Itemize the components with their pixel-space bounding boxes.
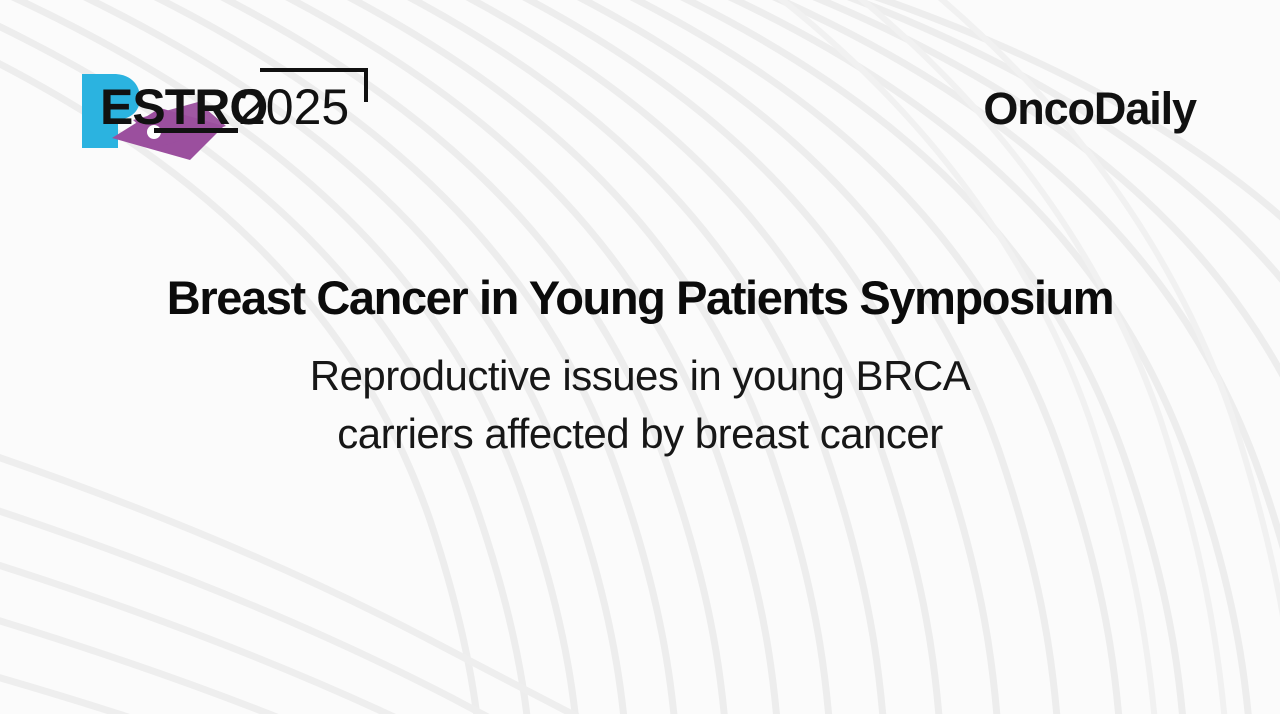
estro-year: 2025 — [238, 79, 349, 135]
estro-2025-logo: ESTRO 2025 — [78, 58, 378, 162]
talk-subtitle: Reproductive issues in young BRCA carrie… — [0, 347, 1280, 463]
headline-block: Breast Cancer in Young Patients Symposiu… — [0, 272, 1280, 463]
oncodaily-wordmark: OncoDaily — [983, 86, 1196, 131]
presentation-slide: ESTRO 2025 OncoDaily Breast Cancer in Yo… — [0, 0, 1280, 714]
estro-underline — [154, 128, 238, 133]
talk-subtitle-line-2: carriers affected by breast cancer — [0, 405, 1280, 463]
page-title: Breast Cancer in Young Patients Symposiu… — [0, 272, 1280, 325]
talk-subtitle-line-1: Reproductive issues in young BRCA — [0, 347, 1280, 405]
